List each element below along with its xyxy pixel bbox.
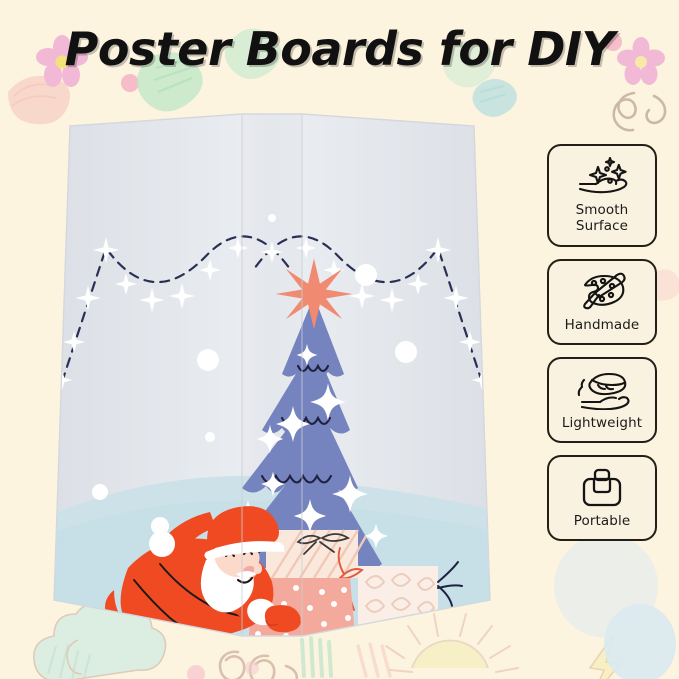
balloon-doodle [604, 604, 676, 679]
tri-fold-poster-board [10, 112, 535, 640]
briefcase-icon [579, 466, 625, 510]
badge-portable[interactable]: Portable [547, 455, 657, 541]
badge-label-line: Portable [574, 514, 630, 530]
feather-on-hand-icon [574, 368, 630, 412]
feature-badge-list: Smooth Surface Handmade [547, 144, 657, 541]
badge-label: Handmade [565, 318, 640, 334]
badge-label-line: Smooth [576, 203, 629, 219]
bolt-doodle [590, 634, 620, 679]
paint-palette-brush-icon [575, 270, 629, 314]
badge-smooth-surface[interactable]: Smooth Surface [547, 144, 657, 247]
page-title: Poster Boards for DIY [0, 22, 679, 76]
badge-label-line: Handmade [565, 318, 640, 334]
sparkle-hand-icon [574, 155, 630, 199]
badge-label-line: Lightweight [562, 416, 642, 432]
product-infographic: Poster Boards for DIY Smooth Surface [0, 0, 679, 679]
loop-doodle [220, 652, 297, 679]
badge-handmade[interactable]: Handmade [547, 259, 657, 345]
badge-label: Lightweight [562, 416, 642, 432]
badge-label: Portable [574, 514, 630, 530]
swirl-doodle [614, 93, 665, 130]
badge-label-line: Surface [576, 219, 629, 235]
badge-lightweight[interactable]: Lightweight [547, 357, 657, 443]
badge-label: Smooth Surface [576, 203, 629, 235]
